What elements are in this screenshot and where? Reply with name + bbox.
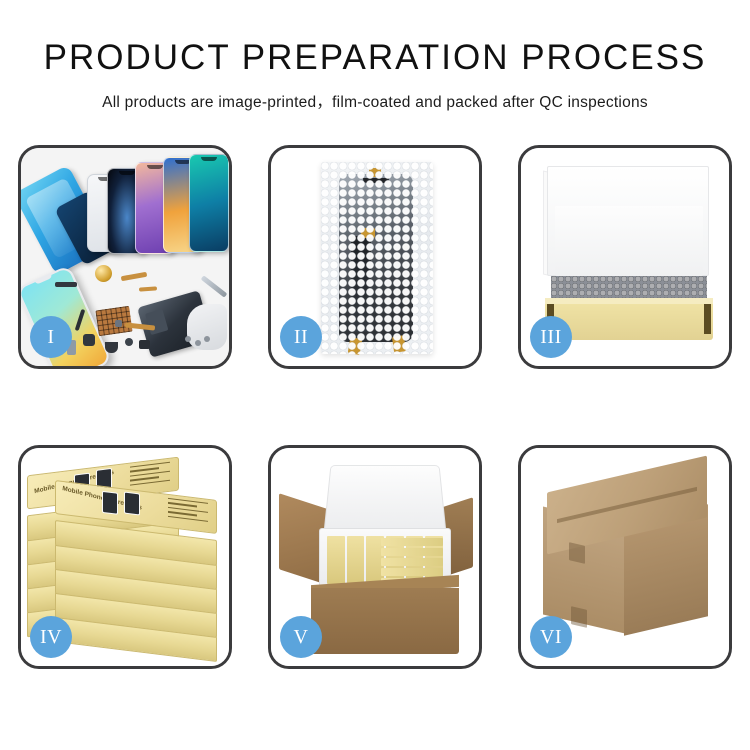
box-spec-lines-icon	[130, 462, 170, 489]
notch-icon	[119, 171, 135, 175]
process-step-2[interactable]: II	[268, 145, 482, 369]
box-spec-lines-icon	[168, 498, 208, 525]
notch-icon	[201, 157, 217, 161]
process-step-6[interactable]: VI	[518, 445, 732, 669]
step-badge-5: V	[280, 616, 322, 658]
step-badge-6: VI	[530, 616, 572, 658]
speaker-module-icon	[95, 265, 112, 282]
carton-tape-tab-icon	[571, 606, 587, 628]
notch-icon	[147, 165, 163, 169]
button-part-icon	[125, 338, 133, 346]
process-step-4[interactable]: Mobile Phone Spare Parts Mobile Phone Sp…	[18, 445, 232, 669]
process-step-5[interactable]: V	[268, 445, 482, 669]
process-step-1[interactable]: I	[18, 145, 232, 369]
foam-lid-icon	[323, 465, 447, 538]
box-stack-front: Mobile Phone Spare Parts	[55, 506, 217, 648]
step-badge-1: I	[30, 316, 72, 358]
page-subtitle: All products are image-printed，film-coat…	[0, 90, 750, 112]
notch-icon	[35, 274, 53, 285]
earpiece-icon	[55, 282, 77, 287]
bubble-texture	[321, 162, 433, 354]
box-artwork-thumb-icon	[124, 492, 140, 516]
flex-cable-icon	[139, 286, 157, 291]
taptic-engine-icon	[105, 342, 118, 353]
step-badge-3: III	[530, 316, 572, 358]
step-badge-4: IV	[30, 616, 72, 658]
process-step-3[interactable]: III	[518, 145, 732, 369]
carton-front-icon	[311, 588, 459, 654]
carton-tape-tab-icon	[569, 542, 585, 564]
box-artwork-thumb-icon	[102, 491, 118, 515]
step-badge-2: II	[280, 316, 322, 358]
page-title: PRODUCT PREPARATION PROCESS	[0, 38, 750, 78]
camera-module-icon	[83, 334, 95, 346]
chip-grid-icon	[95, 306, 132, 336]
bubble-wrap-bag	[321, 162, 433, 354]
page-header: PRODUCT PREPARATION PROCESS All products…	[0, 0, 750, 112]
screws-icon	[185, 336, 211, 346]
phone-teal-icon	[189, 154, 229, 252]
connector-part-icon	[139, 340, 150, 349]
process-step-grid: I II III	[18, 145, 734, 669]
screw-part-icon	[115, 320, 122, 327]
foam-sheet-icon	[555, 206, 703, 276]
